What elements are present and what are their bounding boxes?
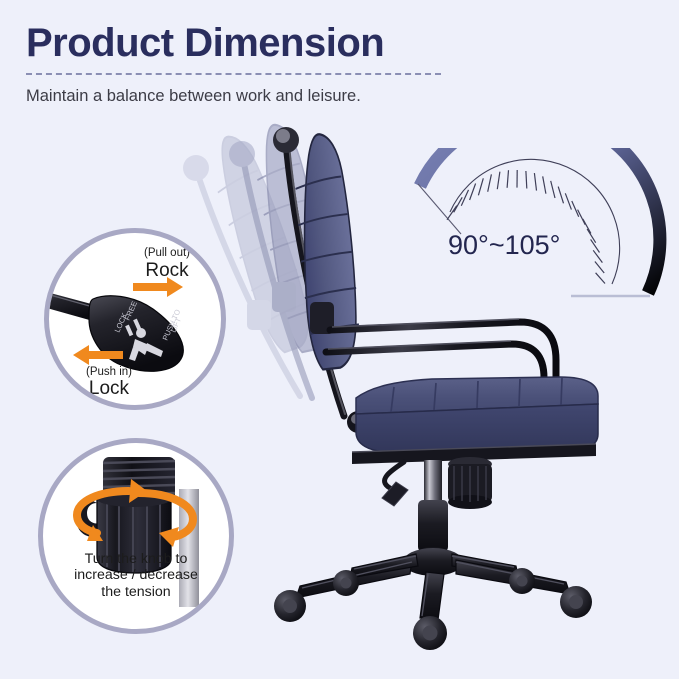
backrest-ghost-mid xyxy=(229,121,341,398)
casters xyxy=(274,568,592,650)
armrest-frame xyxy=(326,322,556,436)
angle-tick-marks xyxy=(447,170,605,284)
base-legs xyxy=(296,554,570,620)
backrest-bracket xyxy=(310,302,334,334)
tension-caption-line-2: increase / decrease xyxy=(43,567,229,583)
angle-value-label: 90°~105° xyxy=(448,230,560,261)
backrest-upright xyxy=(273,127,369,433)
callout-tension-knob: Turn the knob to increase / decrease the… xyxy=(38,438,234,634)
seat-side xyxy=(356,404,598,452)
tension-knob[interactable] xyxy=(448,457,492,509)
backrest-lower-pivot xyxy=(347,411,369,433)
tension-caption-line-1: Turn the knob to xyxy=(43,551,229,567)
page-subtitle: Maintain a balance between work and leis… xyxy=(26,86,456,107)
rock-hint-label: (Pull out) xyxy=(127,247,207,260)
backrest-stitch-lines xyxy=(293,176,361,334)
base-hub xyxy=(403,548,463,576)
angle-indicator: 90°~105° xyxy=(404,148,676,313)
base-leg-highlights xyxy=(302,556,564,616)
tilt-lever[interactable] xyxy=(382,462,408,506)
cylinder-shroud xyxy=(418,500,448,552)
seat-assembly xyxy=(352,377,598,464)
gas-cylinder xyxy=(418,460,448,557)
chair-base xyxy=(274,548,592,650)
tension-caption: Turn the knob to increase / decrease the… xyxy=(43,551,229,600)
seat-top xyxy=(356,377,598,414)
header: Product Dimension Maintain a balance bet… xyxy=(26,22,456,107)
seat-stitch-lines xyxy=(391,378,562,412)
angle-arc-outer xyxy=(420,148,660,293)
backrest-spine xyxy=(286,142,344,416)
cylinder-chrome-shaft xyxy=(424,460,442,504)
tension-caption-line-3: the tension xyxy=(43,584,229,600)
seat-mechanism-plate xyxy=(352,444,596,464)
armrest-highlight xyxy=(328,319,519,349)
page-title: Product Dimension xyxy=(26,22,456,64)
lock-hint-label: (Push in) xyxy=(63,366,155,379)
rock-label: Rock xyxy=(127,260,207,281)
callout-tilt-lever: LOCK FREE PUSH TO LIFT (Pull out) Rock (… xyxy=(44,228,226,410)
lock-label: Lock xyxy=(63,378,155,399)
backrest-top-pivot xyxy=(273,127,299,153)
backrest-cushion xyxy=(289,132,365,370)
product-dimension-infographic: 90°~105° xyxy=(0,0,679,679)
tension-knob-callout-graphic xyxy=(43,443,229,629)
title-divider xyxy=(26,73,441,75)
